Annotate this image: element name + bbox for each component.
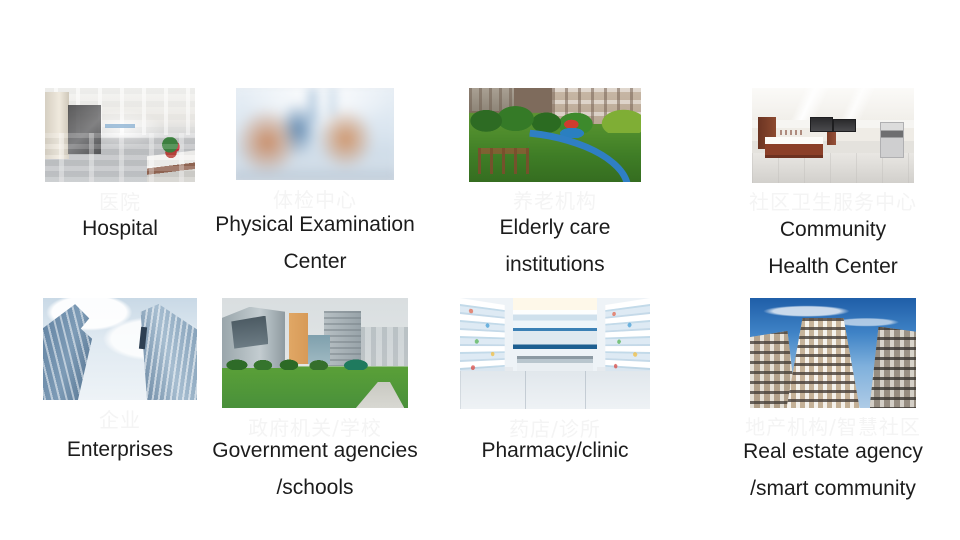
hospital-counter-shape	[147, 150, 195, 182]
grid-cell-pharmacy-clinic[interactable]: 药店/诊所 Pharmacy/clinic	[435, 298, 675, 469]
pharmacy-aisle-photo	[460, 298, 650, 409]
lobby-wall-sign-shape	[780, 130, 806, 136]
hospital-lobby-artwork	[45, 88, 195, 182]
government-agencies-photo	[222, 298, 408, 408]
lobby-television-secondary-shape	[833, 119, 856, 131]
physical-examination-center-photo	[236, 88, 394, 180]
real-estate-artwork	[750, 298, 916, 408]
scenario-grid: 医院 Hospital 体检中心 Physical Examination Ce…	[0, 0, 960, 540]
hospital-escalator-shape	[68, 105, 101, 154]
grid-cell-physical-examination-center[interactable]: 体检中心 Physical Examination Center	[195, 88, 435, 280]
community-health-center-artwork	[752, 88, 914, 183]
real-estate-smart-community-caption: Real estate agency /smart community	[713, 433, 953, 507]
community-health-center-caption: Community Health Center	[713, 211, 953, 285]
government-agencies-artwork	[222, 298, 408, 408]
grid-cell-government-agencies-schools[interactable]: 政府机关/学校 Government agencies /schools	[195, 298, 435, 506]
enterprises-artwork	[43, 298, 197, 400]
pharmacy-floor-shape	[460, 371, 650, 409]
hospital-sign-shape	[105, 124, 135, 129]
pharmacy-artwork	[460, 298, 650, 409]
physical-examination-artwork	[236, 88, 394, 180]
hospital-door-shape	[45, 92, 69, 160]
enterprises-skyscrapers-photo	[43, 298, 197, 400]
lawn-hedgerow-shape	[222, 359, 408, 370]
elderly-care-artwork	[469, 88, 641, 182]
slide-canvas: 医院 Hospital 体检中心 Physical Examination Ce…	[0, 0, 960, 540]
grid-cell-elderly-care-institutions[interactable]: 养老机构 Elderly care institutions	[435, 88, 675, 283]
hospital-plant-shape	[162, 137, 182, 160]
exam-equipment-shape	[308, 88, 317, 122]
community-health-center-photo	[752, 88, 914, 183]
elderly-care-garden-photo	[469, 88, 641, 182]
elderly-care-institutions-caption: Elderly care institutions	[435, 209, 675, 283]
lobby-ceiling-shape	[752, 88, 914, 120]
lobby-kiosk-shape	[880, 122, 904, 158]
grid-cell-community-health-center[interactable]: 社区卫生服务中心 Community Health Center	[713, 88, 953, 285]
orange-building-shape	[289, 313, 308, 364]
lobby-television-shape	[810, 117, 833, 131]
pharmacy-clinic-caption: Pharmacy/clinic	[435, 432, 675, 469]
government-agencies-schools-caption: Government agencies /schools	[195, 432, 435, 506]
exam-equipment-secondary-shape	[329, 88, 336, 116]
physical-examination-center-caption: Physical Examination Center	[195, 206, 435, 280]
hospital-lobby-photo	[45, 88, 195, 182]
lobby-reception-desk-shape	[765, 137, 823, 158]
real-estate-towers-photo	[750, 298, 916, 408]
lawn-walkway-shape	[356, 382, 404, 408]
grid-cell-real-estate-smart-community[interactable]: 地产机构/智慧社区 Real estate agency /smart comm…	[713, 298, 953, 507]
exam-foreground-shade	[236, 162, 394, 180]
garden-pergola-shape	[478, 148, 530, 174]
